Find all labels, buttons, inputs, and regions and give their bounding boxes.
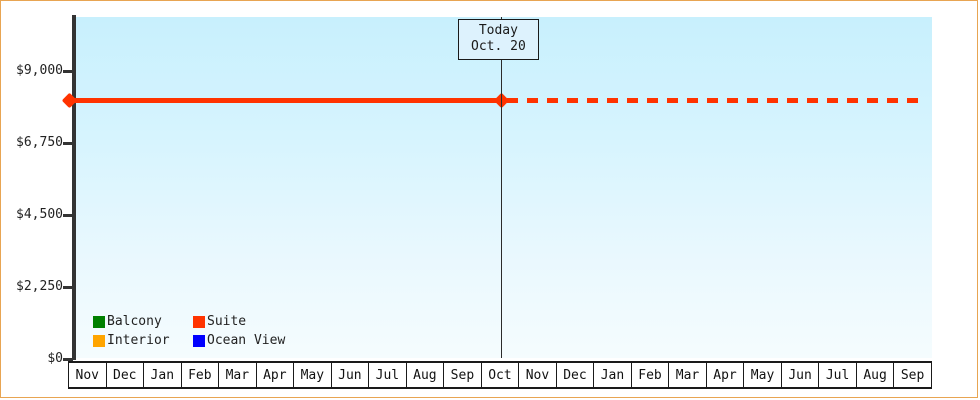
y-axis-tick: [63, 286, 73, 289]
y-axis-label: $6,750: [7, 135, 63, 150]
legend-label-interior: Interior: [107, 333, 170, 348]
x-axis-month-cell[interactable]: Jul: [819, 363, 857, 387]
x-axis-month-labels: NovDecJanFebMarAprMayJunJulAugSepOctNovD…: [68, 361, 932, 389]
x-axis-month-cell[interactable]: Dec: [557, 363, 595, 387]
x-axis-month-cell[interactable]: Nov: [519, 363, 557, 387]
x-axis-month-cell[interactable]: Feb: [182, 363, 220, 387]
y-axis-label: $2,250: [7, 279, 63, 294]
y-axis-tick: [63, 142, 73, 145]
x-axis-month-cell[interactable]: Aug: [407, 363, 445, 387]
x-axis-month-cell[interactable]: Mar: [219, 363, 257, 387]
x-axis-month-cell[interactable]: Jan: [594, 363, 632, 387]
y-axis-label: $0: [7, 351, 63, 366]
legend-swatch-suite: [193, 316, 205, 328]
legend-item-suite[interactable]: Suite: [193, 312, 285, 331]
legend-label-ocean-view: Ocean View: [207, 333, 285, 348]
today-label: Today: [471, 23, 526, 39]
y-axis-labels: $0 $2,250 $4,500 $6,750 $9,000: [1, 1, 63, 399]
legend-swatch-interior: [93, 335, 105, 347]
legend-label-suite: Suite: [207, 314, 246, 329]
y-axis-line: [72, 15, 76, 360]
x-axis-month-cell[interactable]: Jun: [782, 363, 820, 387]
x-axis-month-cell[interactable]: Sep: [894, 363, 932, 387]
y-axis-tick: [63, 214, 73, 217]
legend-item-interior[interactable]: Interior: [93, 331, 185, 350]
x-axis-month-cell[interactable]: Jun: [332, 363, 370, 387]
today-annotation-box: Today Oct. 20: [458, 19, 539, 60]
series-line-suite-actual: [70, 98, 504, 103]
y-axis-label: $4,500: [7, 207, 63, 222]
x-axis-month-cell[interactable]: Jan: [144, 363, 182, 387]
x-axis-month-cell[interactable]: Oct: [482, 363, 520, 387]
x-axis-month-cell[interactable]: Sep: [444, 363, 482, 387]
chart-legend: Balcony Suite Interior Ocean View: [93, 312, 285, 350]
x-axis-month-cell[interactable]: Feb: [632, 363, 670, 387]
y-axis-label: $9,000: [7, 63, 63, 78]
legend-item-ocean-view[interactable]: Ocean View: [193, 331, 285, 350]
legend-item-balcony[interactable]: Balcony: [93, 312, 185, 331]
series-line-suite-forecast: [507, 98, 925, 103]
price-trend-chart: $0 $2,250 $4,500 $6,750 $9,000 Today Oct…: [0, 0, 978, 398]
x-axis-month-cell[interactable]: Apr: [707, 363, 745, 387]
x-axis-month-cell[interactable]: Apr: [257, 363, 295, 387]
x-axis-month-cell[interactable]: Mar: [669, 363, 707, 387]
x-axis-month-cell[interactable]: Jul: [369, 363, 407, 387]
legend-label-balcony: Balcony: [107, 314, 162, 329]
today-date: Oct. 20: [471, 39, 526, 55]
x-axis-month-cell[interactable]: May: [294, 363, 332, 387]
plot-area: [76, 17, 932, 358]
x-axis-month-cell[interactable]: Aug: [857, 363, 895, 387]
x-axis-month-cell[interactable]: May: [744, 363, 782, 387]
y-axis-tick: [63, 70, 73, 73]
x-axis-month-cell[interactable]: Dec: [107, 363, 145, 387]
today-vertical-line: [501, 17, 502, 358]
x-axis-month-cell[interactable]: Nov: [68, 363, 107, 387]
legend-swatch-balcony: [93, 316, 105, 328]
legend-swatch-ocean-view: [193, 335, 205, 347]
